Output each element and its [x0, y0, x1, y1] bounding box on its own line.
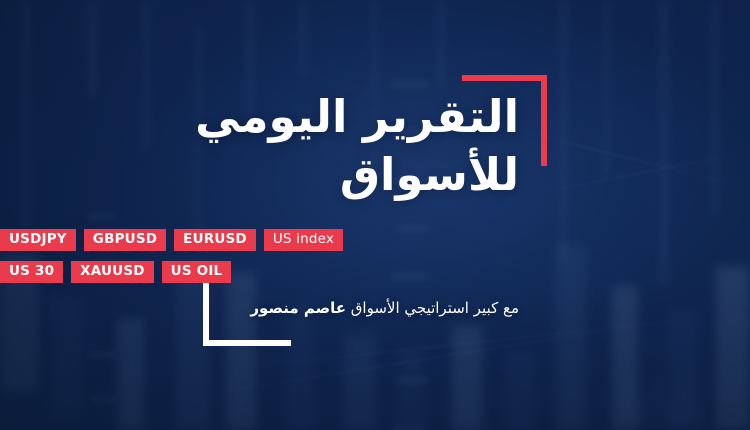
instrument-badge-row-1: USDJPYGBPUSDEURUSDUS index	[0, 229, 527, 251]
instrument-badge-us-oil[interactable]: US OIL	[162, 261, 232, 283]
instrument-badge-us-index[interactable]: US index	[264, 229, 343, 251]
instrument-badge-group: USDJPYGBPUSDEURUSDUS index US 30XAUUSDUS…	[0, 229, 527, 293]
instrument-badge-gbpusd[interactable]: GBPUSD	[84, 229, 166, 251]
instrument-badge-us-30[interactable]: US 30	[0, 261, 63, 283]
page-title-line-2: للأسواق	[39, 146, 519, 204]
instrument-badge-row-2: US 30XAUUSDUS OIL	[0, 261, 527, 283]
page-title: التقرير اليومي للأسواق	[39, 88, 519, 204]
instrument-badge-xauusd[interactable]: XAUUSD	[71, 261, 154, 283]
promo-banner: التقرير اليومي للأسواق USDJPYGBPUSDEURUS…	[0, 0, 750, 430]
banner-content: التقرير اليومي للأسواق USDJPYGBPUSDEURUS…	[0, 0, 750, 430]
page-title-line-1: التقرير اليومي	[39, 88, 519, 146]
presenter-byline: مع كبير استراتيجي الأسواق عاصم منصور	[99, 297, 519, 319]
instrument-badge-eurusd[interactable]: EURUSD	[174, 229, 256, 251]
presenter-name: عاصم منصور	[250, 299, 346, 317]
byline-prefix: مع كبير استراتيجي الأسواق	[346, 299, 519, 317]
instrument-badge-usdjpy[interactable]: USDJPY	[0, 229, 76, 251]
